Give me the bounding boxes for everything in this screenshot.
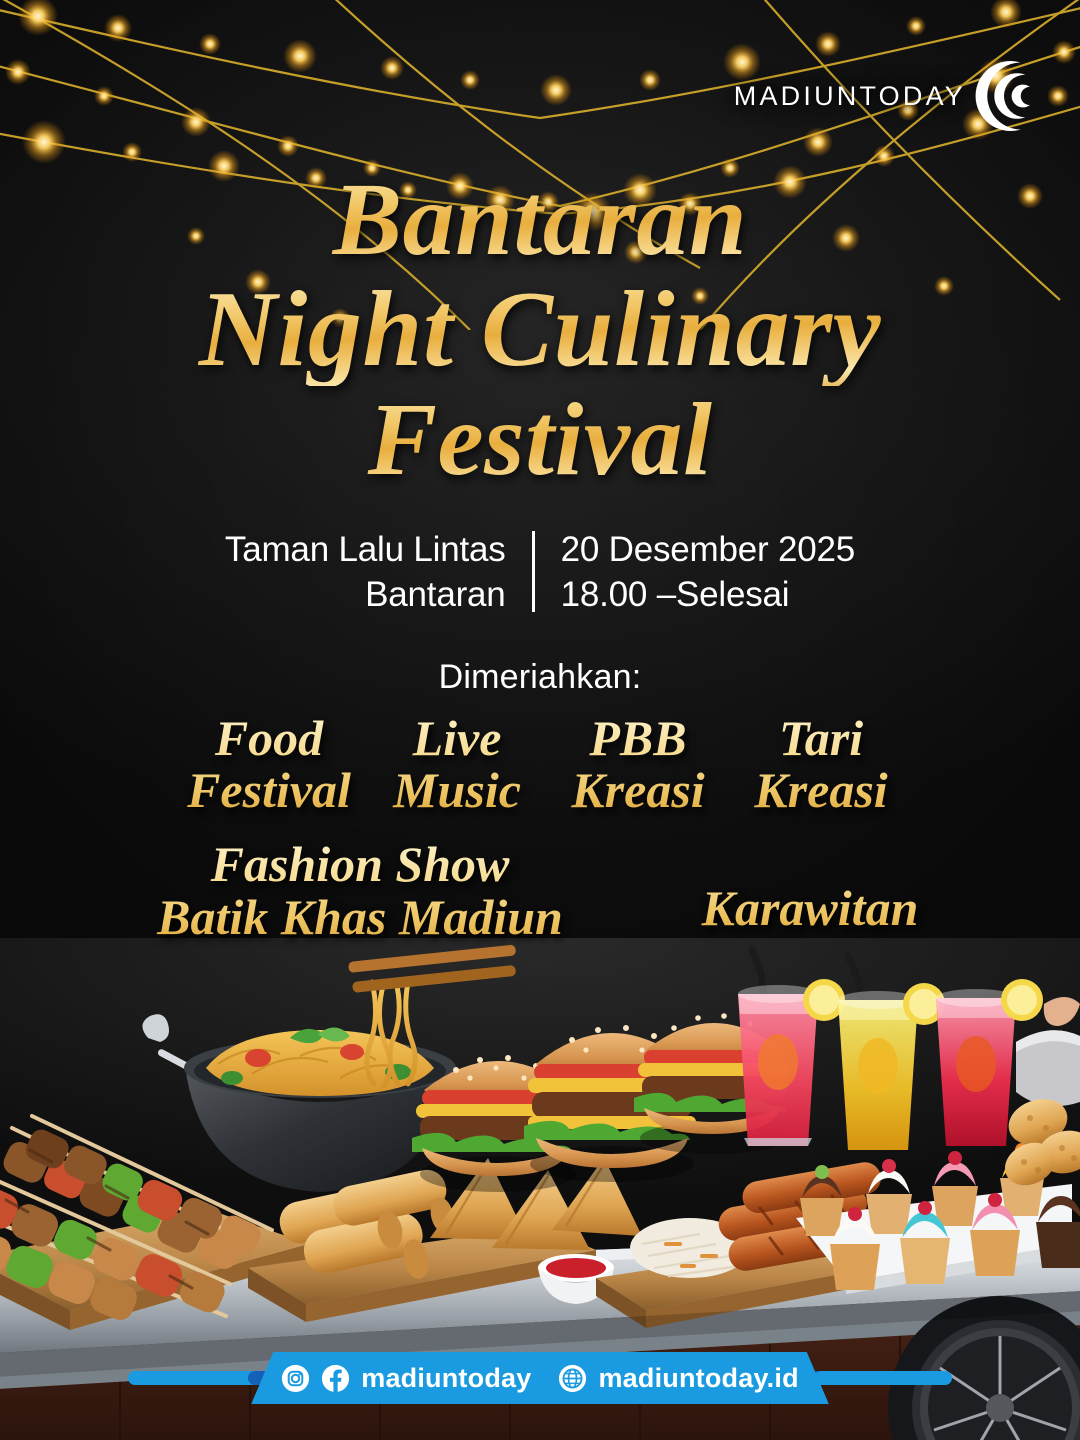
venue-block: Taman Lalu Lintas Bantaran [225,528,532,618]
event-time: 18.00 –Selesai [561,573,856,618]
venue-line-2: Bantaran [225,573,506,618]
title-line-3: Festival [0,386,1080,494]
lineup-item-line-2: Music [369,764,545,816]
lineup-item-line-1: Fashion Show [125,838,595,891]
social-handle-text: madiuntoday [361,1363,531,1394]
datetime-block: 20 Desember 2025 18.00 –Selesai [535,528,856,618]
lineup-item-live-music: Live Music [369,712,545,816]
social-handles-plate: madiuntoday madiuntoday.id [0,1352,1080,1404]
lineup-item-karawitan: Karawitan [665,838,955,935]
lineup-heading: Dimeriahkan: [0,658,1080,697]
poster-title: Bantaran Night Culinary Festival [0,166,1080,494]
social-handle-group[interactable]: madiuntoday madiuntoday.id [251,1352,829,1404]
lineup-item-fashion-show: Fashion Show Batik Khas Madiun [125,838,595,944]
lineup-item-pbb-kreasi: PBB Kreasi [545,712,731,816]
instagram-icon[interactable] [281,1364,310,1393]
lineup-item-line-1: Food [169,712,369,764]
footer-bar: madiuntoday madiuntoday.id [0,1352,1080,1404]
lineup-item-line-2: Festival [169,764,369,816]
lineup-item-line-1: PBB [545,712,731,764]
website-text: madiuntoday.id [598,1363,798,1394]
title-line-2: Night Culinary [0,274,1080,386]
venue-line-1: Taman Lalu Lintas [225,528,506,573]
facebook-icon[interactable] [321,1364,350,1393]
brand-logo: MADIUNTODAY [734,58,1042,134]
lineup-item-line-2: Kreasi [731,764,911,816]
event-details: Taman Lalu Lintas Bantaran 20 Desember 2… [0,528,1080,618]
globe-icon[interactable] [558,1364,587,1393]
logo-wordmark: MADIUNTODAY [734,81,966,112]
lineup-row-2: Fashion Show Batik Khas Madiun Karawitan [0,838,1080,944]
lineup-item-line-2: Kreasi [545,764,731,816]
lineup-item-line-1: Karawitan [665,882,955,935]
crescent-swoosh-icon [966,58,1042,134]
lineup-row-1: Food Festival Live Music PBB Kreasi Tari… [0,712,1080,816]
lineup-item-line-1: Tari [731,712,911,764]
event-date: 20 Desember 2025 [561,528,856,573]
poster-canvas: MADIUNTODAY Bantaran Night Culinary Fest… [0,0,1080,1440]
lineup-item-line-2: Batik Khas Madiun [125,891,595,944]
title-line-1: Bantaran [0,166,1080,274]
lineup-item-food-festival: Food Festival [169,712,369,816]
lineup-item-tari-kreasi: Tari Kreasi [731,712,911,816]
lineup-item-line-1: Live [369,712,545,764]
